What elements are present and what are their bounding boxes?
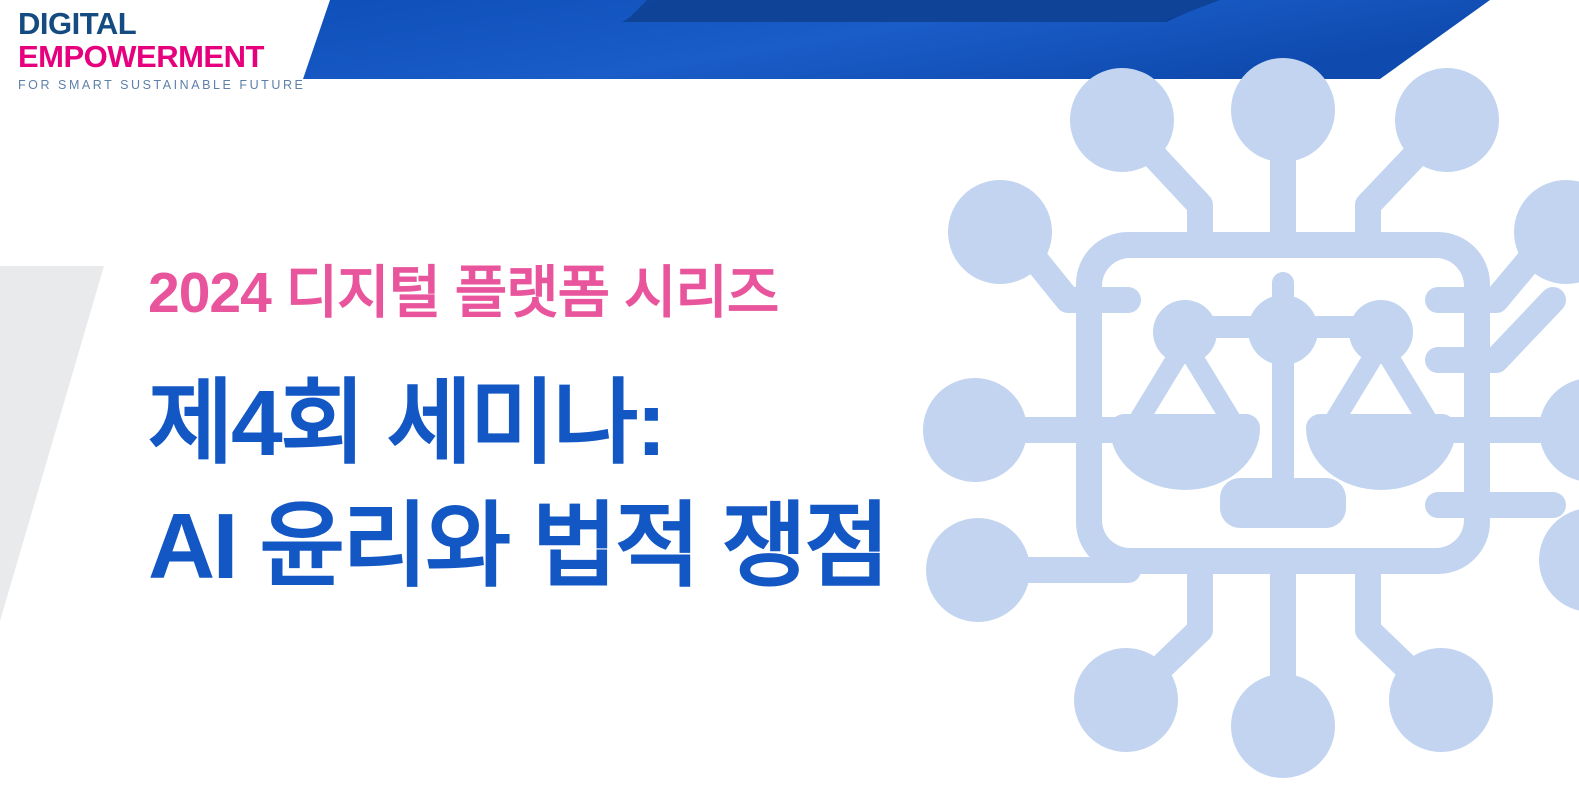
- series-eyebrow: 2024 디지털 플랫폼 시리즈: [148, 262, 1148, 326]
- gray-wedge-shape: [0, 266, 104, 621]
- page-title: 제4회 세미나: AI 윤리와 법적 쟁점: [148, 362, 1148, 608]
- blue-parallelogram-primary: [303, 0, 1490, 79]
- banner-content: 2024 디지털 플랫폼 시리즈 제4회 세미나: AI 윤리와 법적 쟁점: [148, 262, 1148, 607]
- headline-line-1: 제4회 세미나:: [148, 362, 1148, 485]
- logo-line-empowerment: EMPOWERMENT: [18, 41, 305, 74]
- brand-logo: DIGITAL EMPOWERMENT FOR SMART SUSTAINABL…: [18, 8, 305, 92]
- blue-parallelogram-secondary: [625, 0, 1215, 22]
- blue-parallelogram-dark-overlay: [622, 0, 1220, 22]
- scales-of-justice-icon: [1110, 272, 1456, 528]
- logo-line-digital: DIGITAL: [18, 8, 305, 41]
- logo-tagline: FOR SMART SUSTAINABLE FUTURE: [18, 78, 305, 92]
- seminar-banner: DIGITAL EMPOWERMENT FOR SMART SUSTAINABL…: [0, 0, 1579, 806]
- headline-line-2: AI 윤리와 법적 쟁점: [148, 485, 1148, 608]
